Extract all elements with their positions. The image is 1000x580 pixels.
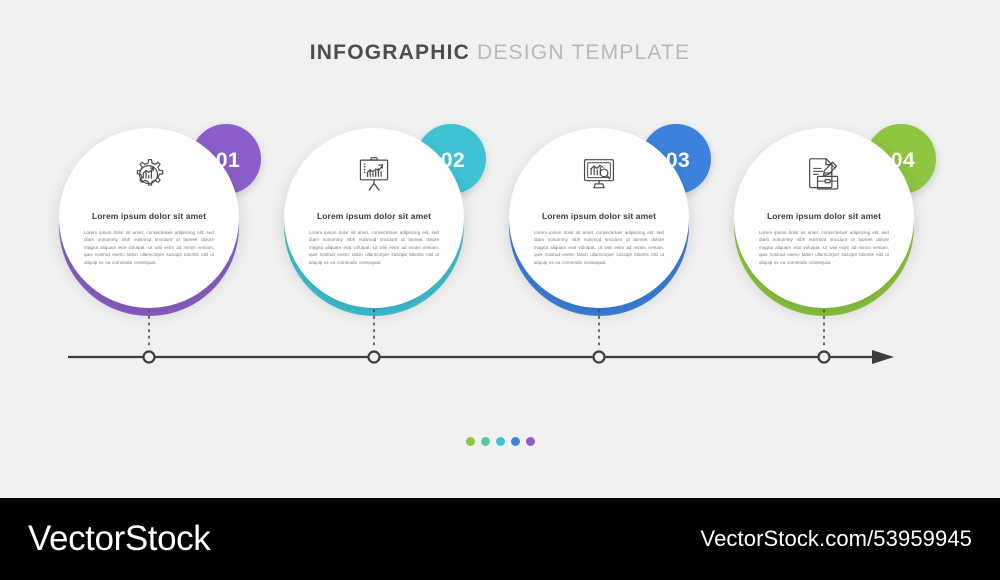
vectorstock-brand: VectorStock — [28, 519, 210, 559]
card-content: Lorem ipsum dolor sit amet Lorem ipsum d… — [284, 128, 464, 308]
document-briefcase-pen-icon — [802, 154, 846, 196]
infographic-card-03[interactable]: 03 Lorem ipsum dolor sit amet Lorem ipsu… — [509, 136, 689, 316]
card-content: Lorem ipsum dolor sit amet Lorem ipsum d… — [509, 128, 689, 308]
card-title: Lorem ipsum dolor sit amet — [92, 211, 206, 221]
card-content: Lorem ipsum dolor sit amet Lorem ipsum d… — [734, 128, 914, 308]
pagination-dot-4[interactable] — [511, 437, 520, 446]
monitor-analytics-search-icon — [577, 154, 621, 196]
card-title: Lorem ipsum dolor sit amet — [317, 211, 431, 221]
infographic-card-02[interactable]: 02 Lorem ipsum dolor sit amet Lorem ipsu… — [284, 136, 464, 316]
gear-growth-chart-icon — [127, 154, 171, 196]
card-body-text: Lorem ipsum dolor sit amet, consectetuer… — [309, 229, 439, 266]
pagination-dot-1[interactable] — [466, 437, 475, 446]
page-title: INFOGRAPHICDESIGN TEMPLATE — [0, 41, 1000, 65]
pagination-dot-3[interactable] — [496, 437, 505, 446]
title-bold-part: INFOGRAPHIC — [310, 41, 470, 64]
pagination-dot-5[interactable] — [526, 437, 535, 446]
title-light-part: DESIGN TEMPLATE — [477, 41, 690, 64]
right-arrowhead-icon — [872, 350, 894, 364]
vectorstock-url: VectorStock.com/53959945 — [701, 526, 972, 552]
timeline — [0, 300, 1000, 375]
infographic-card-01[interactable]: 01 Lorem ipsum dolor sit amet Lorem ipsu… — [59, 136, 239, 316]
presentation-board-chart-icon — [352, 154, 396, 196]
connector-dotted-lines — [149, 310, 824, 349]
watermark-footer: VectorStock VectorStock.com/53959945 — [0, 498, 1000, 580]
pagination-dot-2[interactable] — [481, 437, 490, 446]
timeline-graphic — [0, 300, 1000, 375]
card-body-text: Lorem ipsum dolor sit amet, consectetuer… — [534, 229, 664, 266]
card-title: Lorem ipsum dolor sit amet — [767, 211, 881, 221]
card-body-text: Lorem ipsum dolor sit amet, consectetuer… — [759, 229, 889, 266]
card-body-text: Lorem ipsum dolor sit amet, consectetuer… — [84, 229, 214, 266]
card-title: Lorem ipsum dolor sit amet — [542, 211, 656, 221]
infographic-cards: 01 Lorem ipsum dolor sit amet Lorem ipsu… — [0, 128, 1000, 323]
infographic-card-04[interactable]: 04 Lorem ipsum dolor sit amet Lorem ipsu… — [734, 136, 914, 316]
pagination-dots[interactable] — [0, 437, 1000, 446]
card-content: Lorem ipsum dolor sit amet Lorem ipsum d… — [59, 128, 239, 308]
